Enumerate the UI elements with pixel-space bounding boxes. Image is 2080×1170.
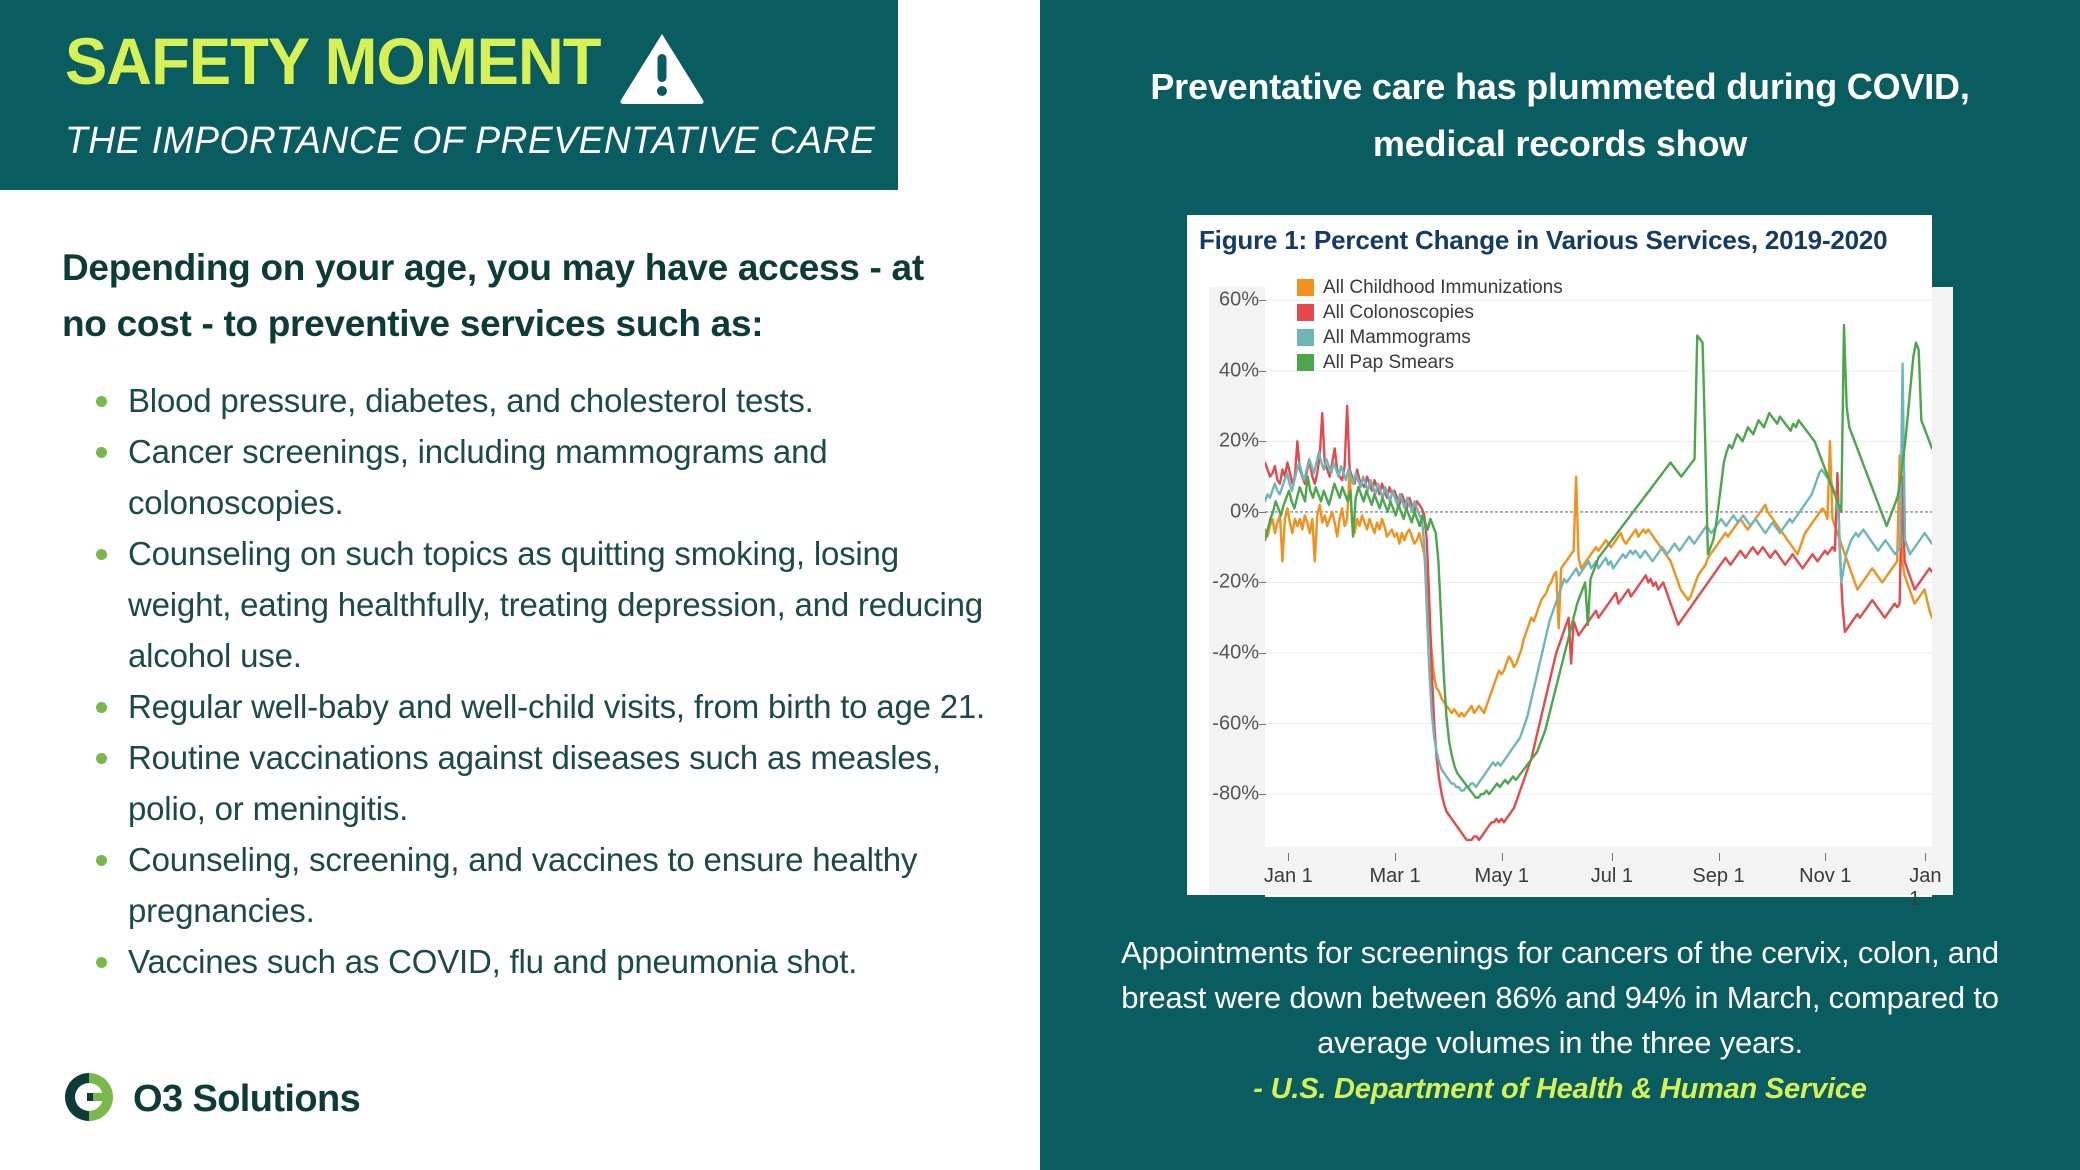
legend-swatch-icon (1297, 354, 1314, 371)
o3-logo-mark-icon (62, 1070, 116, 1129)
y-axis-tick-mark (1259, 724, 1266, 725)
lead-paragraph: Depending on your age, you may have acce… (62, 240, 962, 352)
y-axis-tick-mark (1259, 441, 1266, 442)
legend-item[interactable]: All Mammograms (1297, 325, 1563, 350)
bullet-dot-icon (96, 855, 107, 866)
y-axis-tick-mark (1259, 371, 1266, 372)
right-panel-title: Preventative care has plummeted during C… (1095, 58, 2025, 172)
slide-root: SAFETY MOMENT THE IMPORTANCE OF PREVENTA… (0, 0, 2080, 1170)
list-item-label: Vaccines such as COVID, flu and pneumoni… (128, 943, 857, 980)
list-item: Blood pressure, diabetes, and cholestero… (88, 375, 1008, 426)
x-axis-tick-mark (1395, 853, 1396, 861)
x-axis-tick-mark (1925, 853, 1926, 861)
warning-triangle-icon (619, 30, 705, 111)
legend-label: All Mammograms (1323, 327, 1471, 349)
legend-swatch-icon (1297, 329, 1314, 346)
list-item: Counseling on such topics as quitting sm… (88, 528, 1008, 681)
y-axis-tick-mark (1259, 512, 1266, 513)
list-item-label: Counseling on such topics as quitting sm… (128, 535, 983, 674)
x-axis-tick-label: Jul 1 (1591, 865, 1633, 888)
y-axis-tick-mark (1259, 582, 1266, 583)
list-item-label: Routine vaccinations against diseases su… (128, 739, 941, 827)
legend-swatch-icon (1297, 279, 1314, 296)
plot-area: 60%40%20%0%-20%-40%-60%-80% Jan 1Mar 1Ma… (1187, 265, 1932, 895)
y-axis-tick-mark (1259, 653, 1266, 654)
x-axis-tick-label: Mar 1 (1370, 865, 1421, 888)
header-banner: SAFETY MOMENT THE IMPORTANCE OF PREVENTA… (0, 0, 898, 190)
chart-card: Figure 1: Percent Change in Various Serv… (1187, 215, 1932, 895)
x-axis-tick-label: Sep 1 (1692, 865, 1744, 888)
list-item-label: Regular well-baby and well-child visits,… (128, 688, 985, 725)
title-row: SAFETY MOMENT (65, 26, 878, 111)
x-axis-tick-label: May 1 (1475, 865, 1529, 888)
y-axis-tick-label: 0% (1230, 500, 1259, 523)
page-subtitle: THE IMPORTANCE OF PREVENTATIVE CARE (65, 117, 862, 165)
brand-logo: O3 Solutions (62, 1070, 360, 1129)
legend-item[interactable]: All Childhood Immunizations (1297, 275, 1563, 300)
x-axis-ticks: Jan 1Mar 1May 1Jul 1Sep 1Nov 1Jan 1 (1265, 853, 1932, 893)
y-axis-tick-label: 40% (1219, 359, 1259, 382)
legend-item[interactable]: All Colonoscopies (1297, 300, 1563, 325)
legend-label: All Colonoscopies (1323, 302, 1474, 324)
list-item-label: Cancer screenings, including mammograms … (128, 433, 827, 521)
legend-label: All Pap Smears (1323, 352, 1454, 374)
bullet-dot-icon (96, 549, 107, 560)
x-axis-tick-mark (1612, 853, 1613, 861)
x-axis-tick-mark (1502, 853, 1503, 861)
preventive-services-list: Blood pressure, diabetes, and cholestero… (88, 375, 1008, 987)
y-axis-tick-mark (1259, 300, 1266, 301)
list-item-label: Blood pressure, diabetes, and cholestero… (128, 382, 814, 419)
x-axis-tick-mark (1719, 853, 1720, 861)
legend-swatch-icon (1297, 304, 1314, 321)
list-item: Counseling, screening, and vaccines to e… (88, 834, 1008, 936)
y-axis-ticks: 60%40%20%0%-20%-40%-60%-80% (1187, 265, 1259, 897)
y-axis-tick-mark (1259, 794, 1266, 795)
x-axis-tick-mark (1825, 853, 1826, 861)
list-item-label: Counseling, screening, and vaccines to e… (128, 841, 917, 929)
y-axis-tick-label: -80% (1212, 783, 1259, 806)
x-axis-tick-label: Jan 1 (1264, 865, 1313, 888)
bullet-dot-icon (96, 957, 107, 968)
y-axis-tick-label: 60% (1219, 289, 1259, 312)
list-item: Routine vaccinations against diseases su… (88, 732, 1008, 834)
list-item: Cancer screenings, including mammograms … (88, 426, 1008, 528)
brand-name: O3 Solutions (133, 1078, 360, 1121)
chart-title: Figure 1: Percent Change in Various Serv… (1199, 225, 1887, 256)
y-axis-tick-label: -60% (1212, 712, 1259, 735)
right-panel: Preventative care has plummeted during C… (1040, 0, 2080, 1170)
y-axis-tick-label: 20% (1219, 430, 1259, 453)
x-axis-tick-label: Jan 1 (1909, 865, 1941, 911)
x-axis-tick-label: Nov 1 (1799, 865, 1851, 888)
page-title: SAFETY MOMENT (65, 26, 600, 96)
chart-attribution: - U.S. Department of Health & Human Serv… (1092, 1073, 2028, 1106)
list-item: Vaccines such as COVID, flu and pneumoni… (88, 936, 1008, 987)
list-item: Regular well-baby and well-child visits,… (88, 681, 1008, 732)
y-axis-tick-label: -40% (1212, 642, 1259, 665)
bullet-dot-icon (96, 447, 107, 458)
header-inner: SAFETY MOMENT THE IMPORTANCE OF PREVENTA… (65, 26, 878, 165)
bullet-dot-icon (96, 702, 107, 713)
bullet-dot-icon (96, 753, 107, 764)
chart-legend: All Childhood ImmunizationsAll Colonosco… (1297, 275, 1563, 375)
legend-label: All Childhood Immunizations (1323, 277, 1563, 299)
y-axis-tick-label: -20% (1212, 571, 1259, 594)
x-axis-tick-mark (1288, 853, 1289, 861)
bullet-dot-icon (96, 396, 107, 407)
left-panel: SAFETY MOMENT THE IMPORTANCE OF PREVENTA… (0, 0, 1040, 1170)
chart-caption: Appointments for screenings for cancers … (1092, 930, 2028, 1065)
legend-item[interactable]: All Pap Smears (1297, 350, 1563, 375)
